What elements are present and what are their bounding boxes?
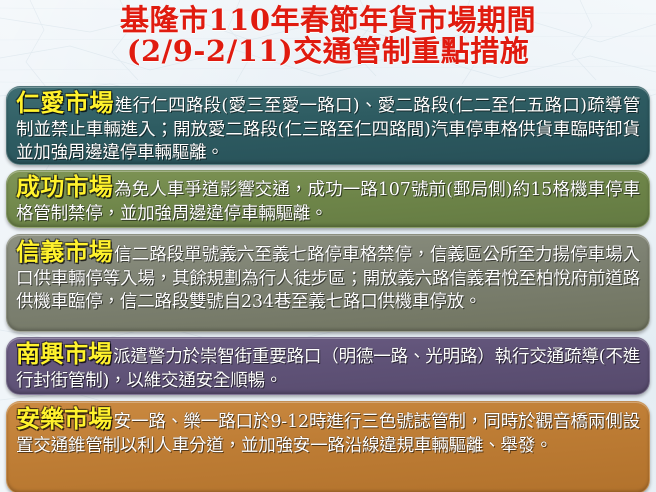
market-paragraph: 信義市場信二路段單號義六至義七路停車格禁停，信義區公所至力揚停車場入口供車輛停等…	[16, 239, 640, 315]
market-name-label: 安樂市場	[16, 404, 114, 433]
market-paragraph: 仁愛市場進行仁四路段(愛三至愛一路口)、愛二路段(仁二至仁五路口)疏導管制並禁止…	[16, 91, 640, 165]
market-paragraph: 成功市場為免人車爭道影響交通，成功一路107號前(郵局側)約15格機車停車格管制…	[16, 175, 640, 226]
market-panel-nanxing: 南興市場派遣警力於崇智街重要路口（明德一路、光明路）執行交通疏導(不進行封街管制…	[6, 337, 650, 395]
presentation-slide: 基隆市110年春節年貨市場期間 (2/9-2/11)交通管制重點措施 仁愛市場進…	[0, 0, 656, 492]
market-name-label: 成功市場	[16, 172, 114, 201]
market-panel-renai: 仁愛市場進行仁四路段(愛三至愛一路口)、愛二路段(仁二至仁五路口)疏導管制並禁止…	[6, 86, 650, 165]
market-name-label: 仁愛市場	[16, 88, 115, 117]
market-paragraph: 南興市場派遣警力於崇智街重要路口（明德一路、光明路）執行交通疏導(不進行封街管制…	[16, 342, 640, 393]
market-name-label: 南興市場	[16, 339, 113, 368]
market-panel-chenggong: 成功市場為免人車爭道影響交通，成功一路107號前(郵局側)約15格機車停車格管制…	[6, 170, 650, 228]
title-line-2: (2/9-2/11)交通管制重點措施	[0, 36, 656, 67]
market-paragraph: 安樂市場安一路、樂一路口於9-12時進行三色號誌管制，同時於觀音橋兩側設置交通錐…	[16, 406, 640, 458]
market-panel-xinyi: 信義市場信二路段單號義六至義七路停車格禁停，信義區公所至力揚停車場入口供車輛停等…	[6, 234, 650, 332]
title-line-1: 基隆市110年春節年貨市場期間	[0, 5, 656, 36]
market-name-label: 信義市場	[16, 237, 114, 266]
market-panel-anle: 安樂市場安一路、樂一路口於9-12時進行三色號誌管制，同時於觀音橋兩側設置交通錐…	[6, 401, 650, 492]
page-title: 基隆市110年春節年貨市場期間 (2/9-2/11)交通管制重點措施	[0, 5, 656, 68]
